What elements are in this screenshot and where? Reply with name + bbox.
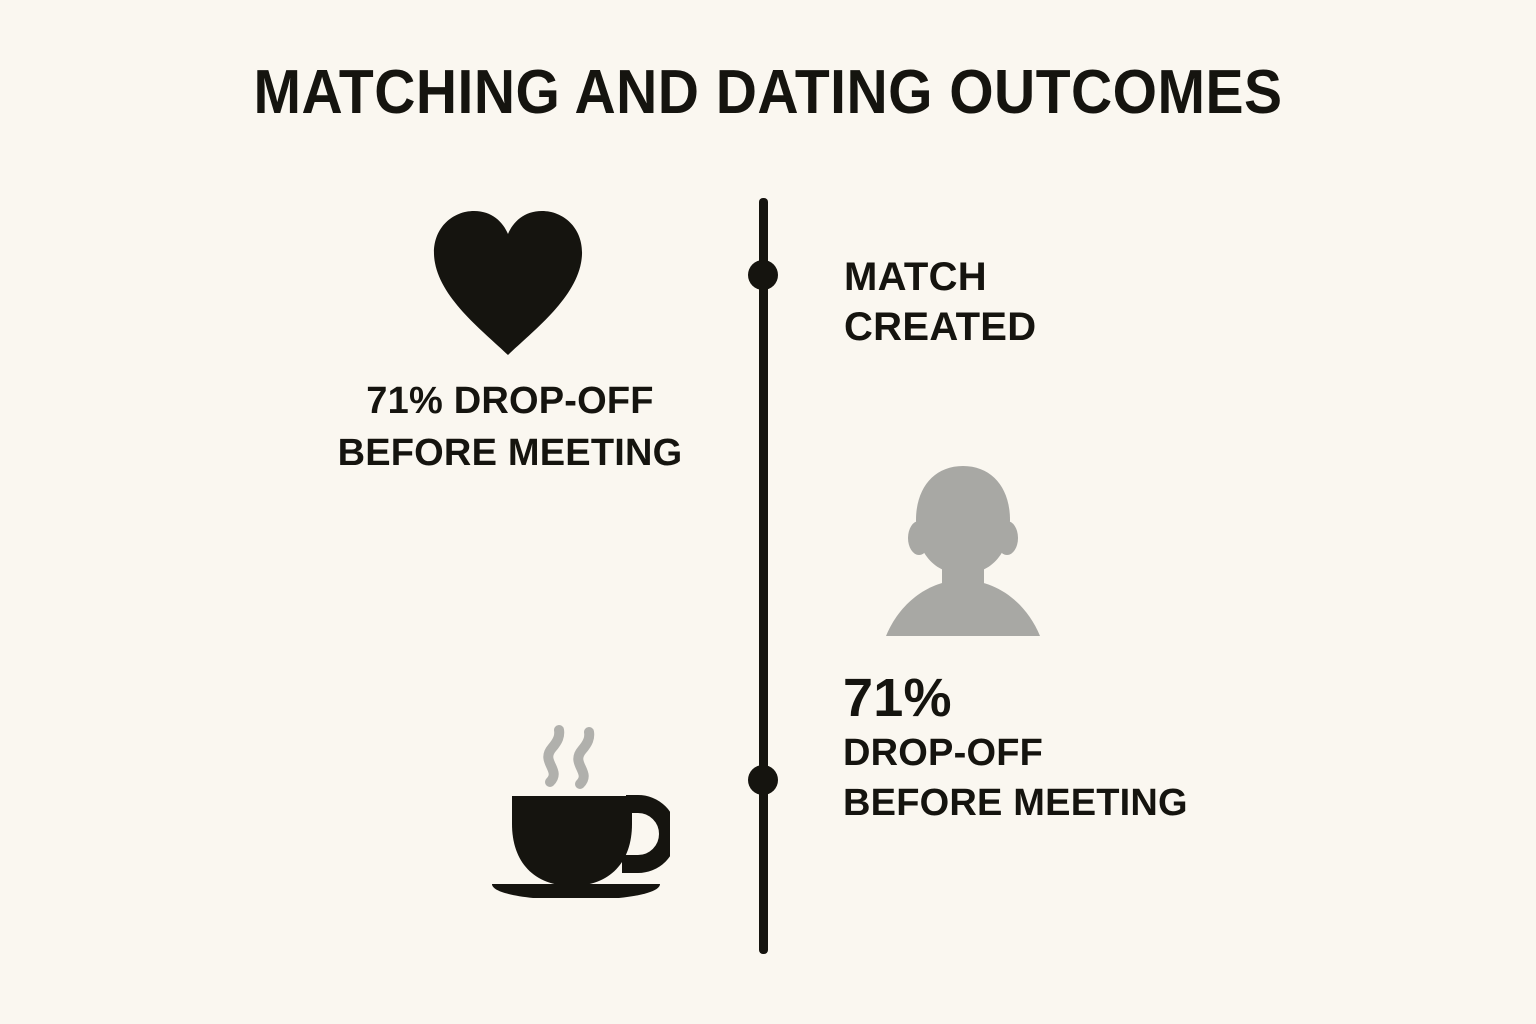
left-caption: 71% DROP-OFF BEFORE MEETING (250, 375, 770, 479)
timeline-node-drop-off[interactable] (748, 765, 778, 795)
page-title: MATCHING AND DATING OUTCOMES (61, 58, 1474, 128)
timeline-axis (759, 198, 768, 954)
coffee-cup-icon (480, 722, 670, 898)
left-caption-line1: 71% DROP-OFF (250, 375, 770, 427)
match-created-line1: MATCH (844, 252, 1036, 302)
person-silhouette-icon (868, 462, 1058, 642)
drop-off-line1: DROP-OFF (843, 728, 1188, 778)
left-caption-line2: BEFORE MEETING (250, 427, 770, 479)
infographic-canvas: MATCHING AND DATING OUTCOMES 71% DROP-OF… (0, 0, 1536, 1024)
timeline-node-match-created[interactable] (748, 260, 778, 290)
match-created-line2: CREATED (844, 302, 1036, 352)
heart-icon (432, 208, 584, 356)
drop-off-stat-block: 71% DROP-OFF BEFORE MEETING (843, 668, 1188, 828)
drop-off-line2: BEFORE MEETING (843, 778, 1188, 828)
drop-off-percent: 71% (843, 668, 1188, 728)
match-created-label: MATCH CREATED (844, 252, 1036, 352)
